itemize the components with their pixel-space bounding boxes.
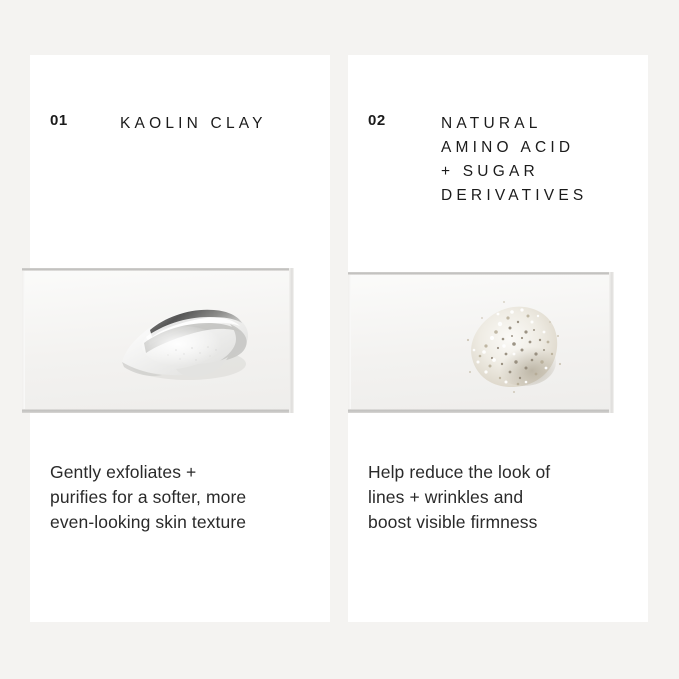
- card-1-title: KAOLIN CLAY: [120, 112, 320, 136]
- card-2-title: NATURAL AMINO ACID + SUGAR DERIVATIVES: [441, 112, 641, 208]
- clay-smear-icon: [110, 290, 260, 390]
- card-2-swatch-band: [348, 272, 614, 413]
- ingredient-card-2: 02 NATURAL AMINO ACID + SUGAR DERIVATIVE…: [348, 55, 648, 622]
- card-1-step-number: 01: [50, 113, 68, 128]
- card-2-slab-edge-left: [348, 272, 351, 413]
- card-1-slab-edge-top: [22, 268, 294, 271]
- card-1-slab-edge-bottom: [22, 409, 294, 413]
- card-1-slab-edge-left: [22, 268, 25, 413]
- card-2-slab-edge-bottom: [348, 409, 614, 413]
- ingredient-cards-board: 01 KAOLIN CLAY: [0, 0, 679, 679]
- card-1-slab-edge-right: [289, 268, 294, 413]
- card-1-body-text: Gently exfoliates + purifies for a softe…: [50, 460, 312, 535]
- card-2-slab-edge-top: [348, 272, 614, 275]
- card-1-swatch-band: [22, 268, 294, 413]
- card-2-header: 02 NATURAL AMINO ACID + SUGAR DERIVATIVE…: [348, 55, 648, 255]
- powder-mound-icon: [456, 292, 568, 402]
- card-2-step-number: 02: [368, 113, 386, 128]
- ingredient-card-1: 01 KAOLIN CLAY: [30, 55, 330, 622]
- card-2-body-text: Help reduce the look of lines + wrinkles…: [368, 460, 630, 535]
- card-1-header: 01 KAOLIN CLAY: [30, 55, 330, 255]
- card-2-slab-edge-right: [609, 272, 614, 413]
